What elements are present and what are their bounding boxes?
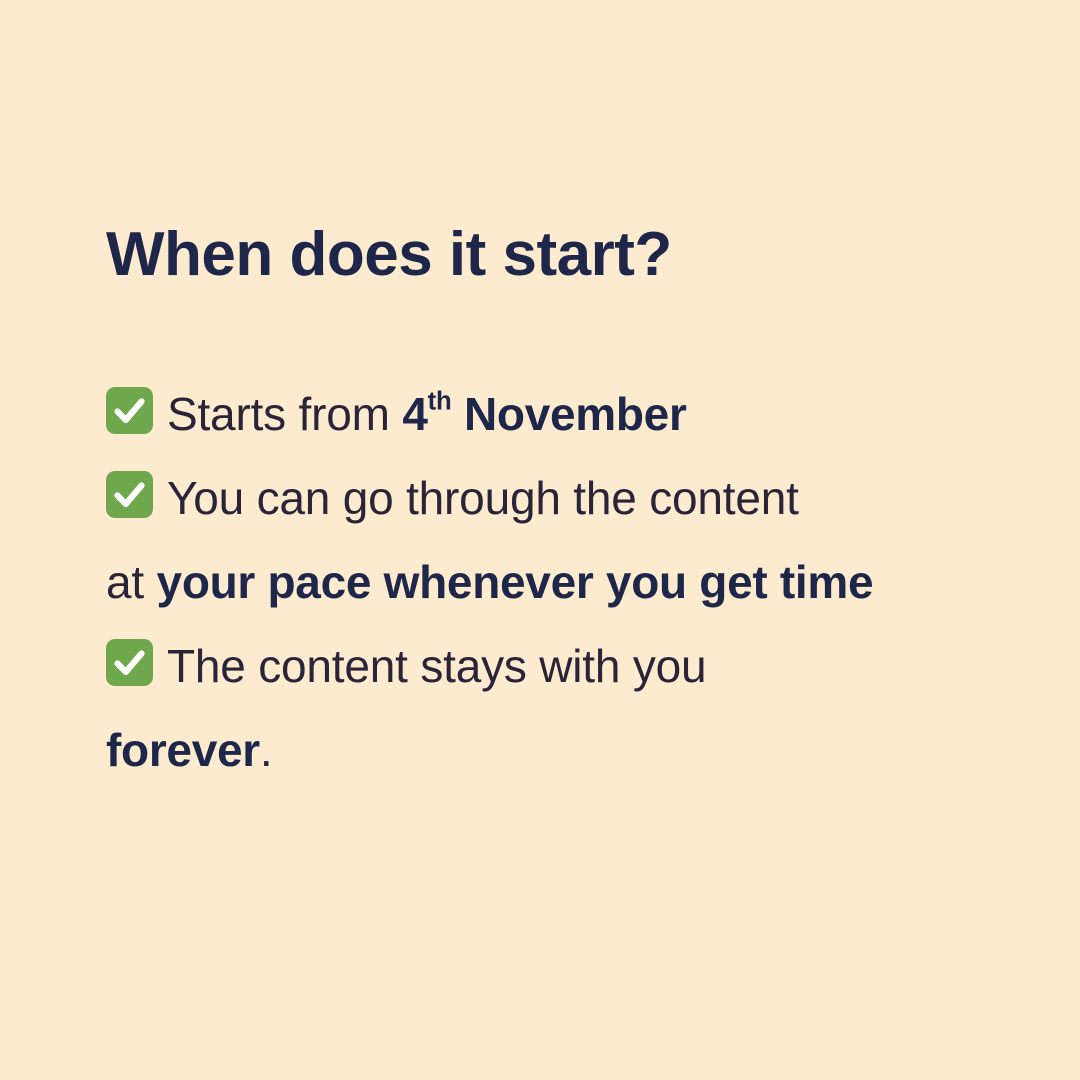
- green-check-icon: [106, 639, 153, 686]
- list-item: The content stays with you: [106, 620, 1006, 704]
- green-check-icon: [106, 387, 153, 434]
- list-item: You can go through the content: [106, 452, 1006, 536]
- green-check-icon: [106, 471, 153, 518]
- bullet-1-month: November: [452, 388, 687, 440]
- bullet-list: Starts from 4th November You can go thro…: [106, 368, 1006, 788]
- page-title: When does it start?: [106, 220, 1006, 289]
- bullet-1-prefix: Starts from: [167, 388, 402, 440]
- bullet-3-text: The content stays with you: [167, 640, 706, 692]
- slide-canvas: When does it start? Starts from 4th Nove…: [0, 0, 1080, 1080]
- bullet-2-continuation-prefix: at: [106, 556, 157, 608]
- bullet-2-text: You can go through the content: [167, 472, 799, 524]
- bullet-3-continuation-bold: forever: [106, 724, 260, 776]
- list-item: Starts from 4th November: [106, 368, 1006, 452]
- bullet-1-ordinal-suffix: th: [428, 388, 452, 416]
- list-item-continuation: at your pace whenever you get time: [106, 536, 1006, 620]
- bullet-1-day: 4: [402, 388, 427, 440]
- bullet-3-continuation-suffix: .: [260, 724, 273, 776]
- list-item-continuation: forever.: [106, 704, 1006, 788]
- bullet-2-continuation-bold: your pace whenever you get time: [157, 556, 874, 608]
